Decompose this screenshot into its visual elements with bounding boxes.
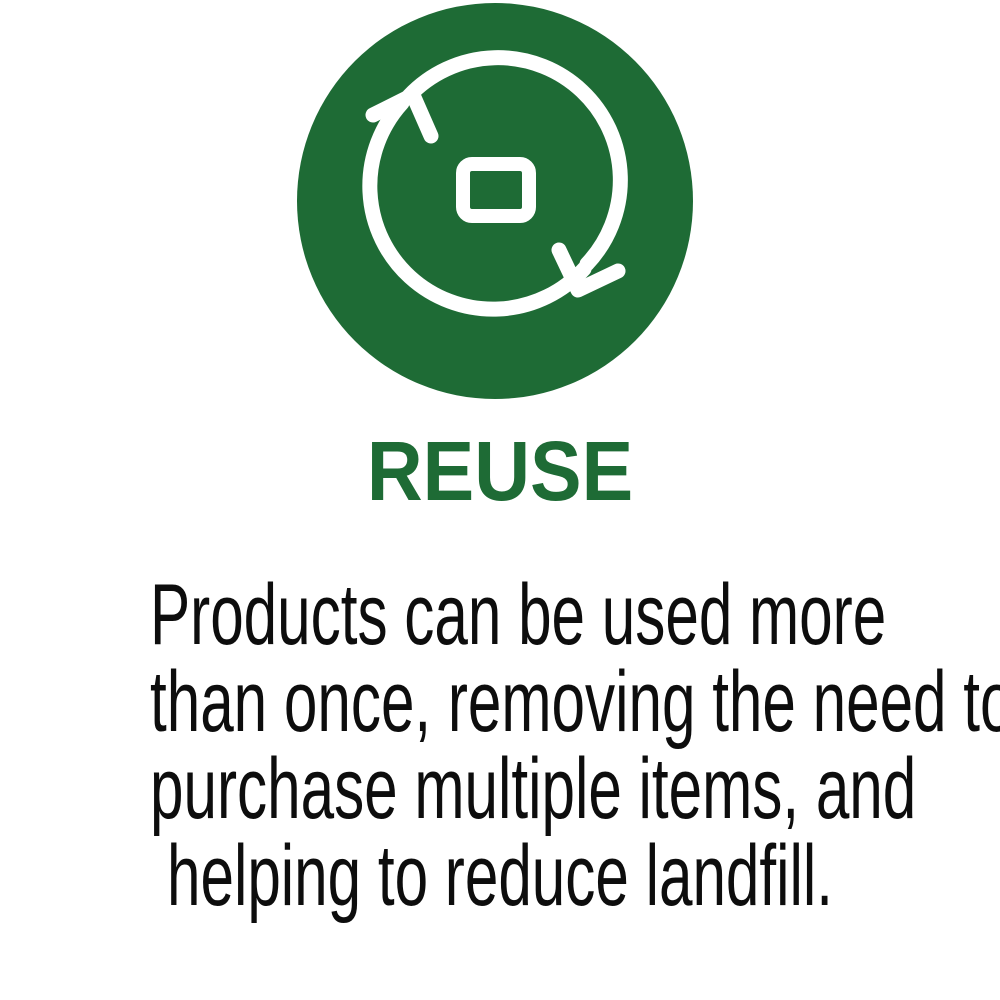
description-line: purchase multiple items, and <box>150 746 850 833</box>
reuse-cycle-icon <box>297 3 693 399</box>
description-line: than once, removing the need to <box>150 659 850 746</box>
description-line: Products can be used more <box>150 572 850 659</box>
reuse-icon-badge <box>297 3 693 399</box>
description-paragraph: Products can be used more than once, rem… <box>0 572 1000 920</box>
description-line: helping to reduce landfill. <box>150 833 850 920</box>
page-title: REUSE <box>40 428 960 514</box>
reuse-infographic-card: REUSE Products can be used more than onc… <box>0 0 1000 1000</box>
